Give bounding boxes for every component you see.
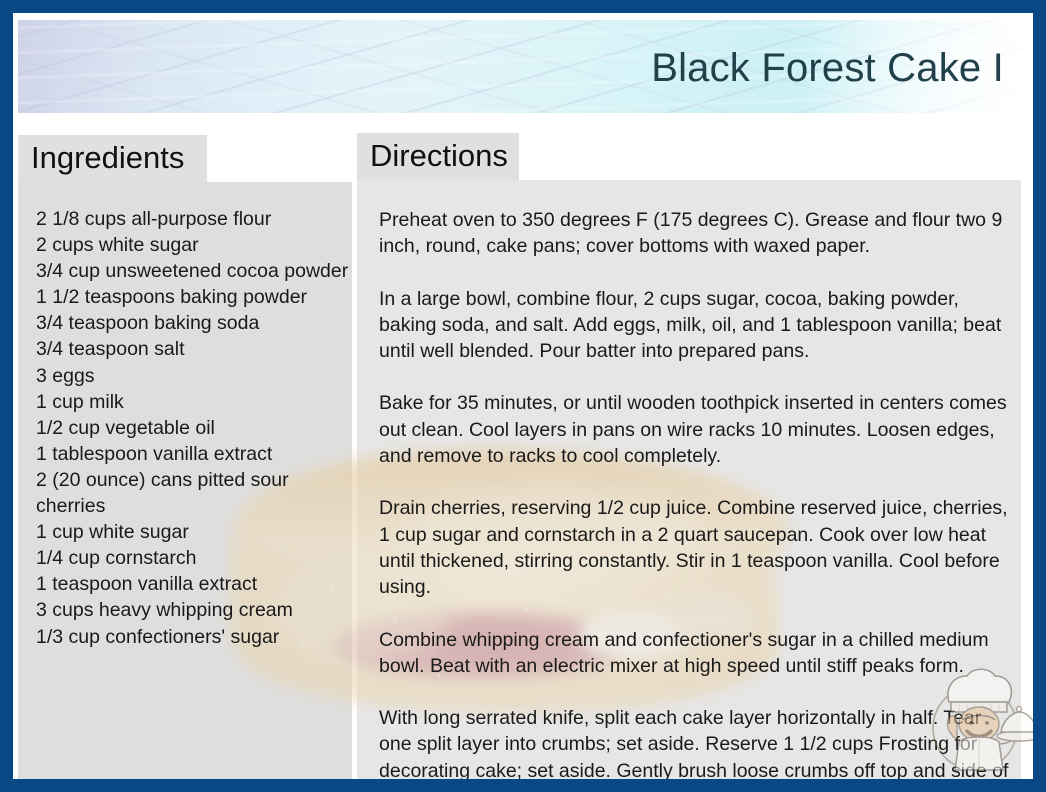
ingredient-item: 2 cups white sugar — [36, 232, 356, 258]
title-banner: Black Forest Cake I — [18, 20, 1026, 113]
ingredient-item: 3 cups heavy whipping cream — [36, 597, 356, 623]
ingredient-item: 1/2 cup vegetable oil — [36, 415, 356, 441]
ingredient-item: 1/3 cup confectioners' sugar — [36, 624, 356, 650]
ingredient-item: 3 eggs — [36, 363, 356, 389]
ingredient-item: 1 tablespoon vanilla extract — [36, 441, 356, 467]
ingredient-item: 1 teaspoon vanilla extract — [36, 571, 356, 597]
ingredient-item: 3/4 teaspoon baking soda — [36, 310, 356, 336]
page-title: Black Forest Cake I — [651, 44, 1004, 92]
ingredient-item: 2 1/8 cups all-purpose flour — [36, 206, 356, 232]
recipe-card: Black Forest Cake I — [0, 0, 1046, 792]
ingredient-item: 1 1/2 teaspoons baking powder — [36, 284, 356, 310]
direction-step: Preheat oven to 350 degrees F (175 degre… — [379, 207, 1015, 260]
ingredients-list: 2 1/8 cups all-purpose flour2 cups white… — [36, 206, 356, 650]
ingredient-item: 3/4 teaspoon salt — [36, 336, 356, 362]
directions-heading: Directions — [370, 136, 508, 176]
direction-step: Bake for 35 minutes, or until wooden too… — [379, 390, 1015, 469]
direction-step: Drain cherries, reserving 1/2 cup juice.… — [379, 495, 1015, 600]
page-surface: Black Forest Cake I — [13, 13, 1033, 779]
ingredient-item: 3/4 cup unsweetened cocoa powder — [36, 258, 356, 284]
direction-step: With long serrated knife, split each cak… — [379, 705, 1015, 779]
direction-step: Combine whipping cream and confectioner'… — [379, 627, 1015, 680]
ingredient-item: 2 (20 ounce) cans pitted sour cherries — [36, 467, 356, 519]
direction-step: In a large bowl, combine flour, 2 cups s… — [379, 286, 1015, 365]
ingredient-item: 1 cup white sugar — [36, 519, 356, 545]
ingredient-item: 1 cup milk — [36, 389, 356, 415]
directions-steps: Preheat oven to 350 degrees F (175 degre… — [379, 207, 1015, 779]
directions-heading-panel: Directions — [357, 133, 519, 180]
ingredients-heading-panel: Ingredients — [18, 135, 207, 182]
ingredient-item: 1/4 cup cornstarch — [36, 545, 356, 571]
ingredients-heading: Ingredients — [31, 138, 184, 178]
